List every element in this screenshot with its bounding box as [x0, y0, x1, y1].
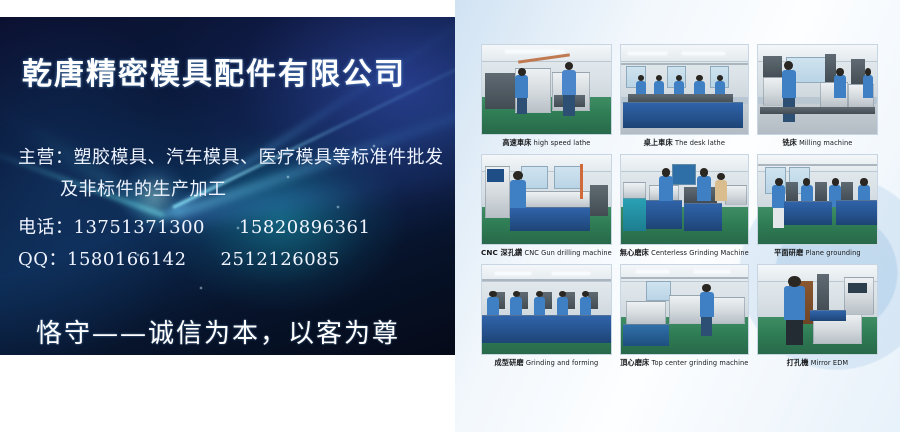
photo-top-center-grinding: [620, 264, 749, 355]
phone-label: 电话：: [18, 213, 74, 239]
gallery-item: 桌上車床 The desk lathe: [620, 44, 749, 148]
business-scope-line-2: 及非标件的生产加工: [60, 175, 227, 201]
caption-en: Grinding and forming: [526, 359, 598, 367]
phone-row: 电话：1375137130015820896361: [18, 213, 370, 239]
photo-caption: CNC 深孔鑽 CNC Gun drilling machine: [481, 248, 612, 258]
qq-row: QQ：15801661422512126085: [18, 245, 340, 271]
caption-cn: 成型研磨: [495, 358, 524, 367]
caption-en: high speed lathe: [534, 139, 591, 147]
photo-gallery: 高速車床 high speed lathe: [455, 0, 900, 432]
caption-en: Plane grounding: [805, 249, 860, 257]
caption-cn: 高速車床: [502, 138, 531, 147]
company-slogan: 恪守——诚信为本，以客为尊: [36, 313, 400, 350]
qq-label: QQ：: [18, 245, 67, 271]
photo-plane-grounding: [757, 154, 878, 245]
company-title: 乾唐精密模具配件有限公司: [22, 49, 406, 93]
caption-en: Centerless Grinding Machine: [651, 249, 749, 257]
gallery-item: 打孔機 Mirror EDM: [757, 264, 878, 368]
photo-high-speed-lathe: [481, 44, 612, 135]
qq-number-2: 2512126085: [221, 249, 341, 270]
caption-cn: 桌上車床: [644, 138, 673, 147]
caption-cn: 铣床: [782, 138, 797, 147]
caption-cn: 打孔機: [787, 358, 809, 367]
caption-en: Mirror EDM: [811, 359, 848, 367]
poster-root: 乾唐精密模具配件有限公司 主营：塑胶模具、汽车模具、医疗模具等标准件批发 及非标…: [0, 0, 900, 432]
phone-number-2: 15820896361: [239, 217, 370, 238]
caption-cn: 平面研磨: [774, 248, 803, 257]
gallery-item: 成型研磨 Grinding and forming: [481, 264, 612, 368]
photo-grinding-forming: [481, 264, 612, 355]
photo-mirror-edm: [757, 264, 878, 355]
gallery-item: 铣床 Milling machine: [757, 44, 878, 148]
gallery-item: 平面研磨 Plane grounding: [757, 154, 878, 258]
caption-cn: 頂心磨床: [620, 358, 649, 367]
photo-caption: 平面研磨 Plane grounding: [757, 248, 878, 258]
photo-desk-lathe: [620, 44, 749, 135]
photo-caption: 桌上車床 The desk lathe: [620, 138, 749, 148]
qq-number-1: 1580166142: [67, 249, 187, 270]
gallery-item: 無心磨床 Centerless Grinding Machine: [620, 154, 749, 258]
phone-number-1: 13751371300: [74, 217, 205, 238]
business-scope-line-1: 主营：塑胶模具、汽车模具、医疗模具等标准件批发: [18, 143, 444, 169]
caption-en: CNC Gun drilling machine: [525, 249, 612, 257]
caption-en: Top center grinding machine: [652, 359, 749, 367]
photo-caption: 頂心磨床 Top center grinding machine: [620, 358, 749, 368]
caption-en: The desk lathe: [675, 139, 725, 147]
photo-caption: 铣床 Milling machine: [757, 138, 878, 148]
photo-caption: 成型研磨 Grinding and forming: [481, 358, 612, 368]
photo-grid: 高速車床 high speed lathe: [455, 0, 900, 368]
banner-content: 乾唐精密模具配件有限公司 主营：塑胶模具、汽车模具、医疗模具等标准件批发 及非标…: [0, 17, 455, 355]
gallery-item: CNC 深孔鑽 CNC Gun drilling machine: [481, 154, 612, 258]
caption-cn: CNC 深孔鑽: [481, 248, 522, 257]
photo-caption: 高速車床 high speed lathe: [481, 138, 612, 148]
caption-cn: 無心磨床: [620, 248, 649, 257]
caption-en: Milling machine: [799, 139, 852, 147]
photo-caption: 打孔機 Mirror EDM: [757, 358, 878, 368]
photo-cnc-gun-drilling: [481, 154, 612, 245]
photo-caption: 無心磨床 Centerless Grinding Machine: [620, 248, 749, 258]
company-banner: 乾唐精密模具配件有限公司 主营：塑胶模具、汽车模具、医疗模具等标准件批发 及非标…: [0, 17, 455, 355]
photo-centerless-grinding: [620, 154, 749, 245]
gallery-item: 高速車床 high speed lathe: [481, 44, 612, 148]
gallery-item: 頂心磨床 Top center grinding machine: [620, 264, 749, 368]
photo-milling-machine: [757, 44, 878, 135]
